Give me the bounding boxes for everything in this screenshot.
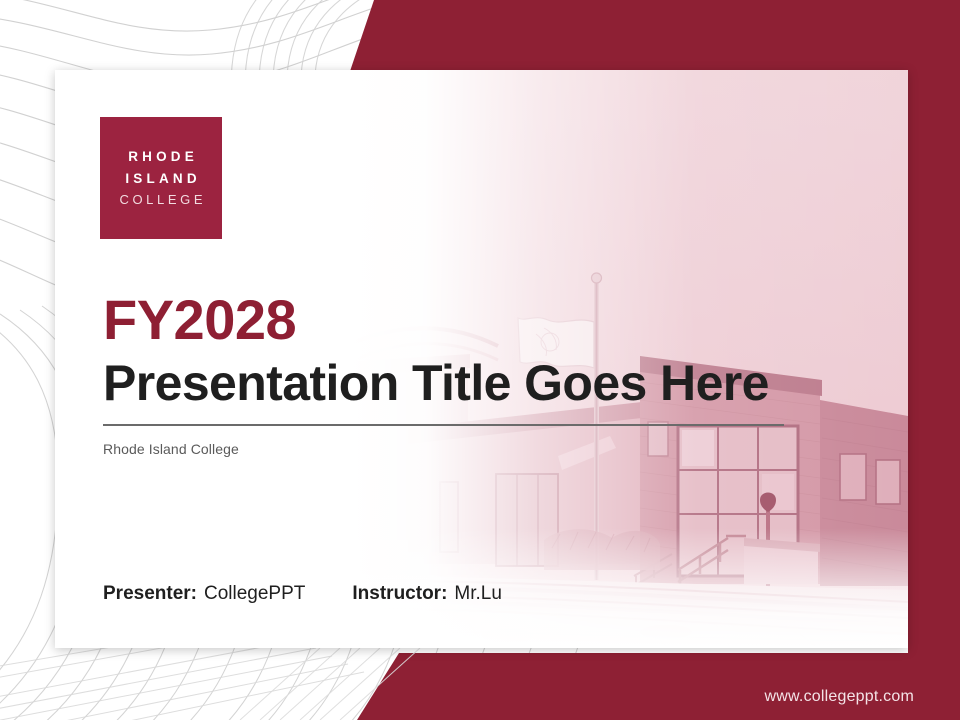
instructor-label: Instructor: xyxy=(352,583,447,605)
red-band-right xyxy=(908,0,960,720)
logo-line-island: ISLAND xyxy=(121,172,201,186)
title-divider xyxy=(103,424,784,426)
red-band-bottom xyxy=(357,653,960,720)
instructor-value: Mr.Lu xyxy=(454,583,502,605)
rhode-island-college-logo: RHODE ISLAND COLLEGE xyxy=(100,117,222,239)
presenter-value: CollegePPT xyxy=(204,583,305,605)
presenter-instructor-row: Presenter: CollegePPT Instructor: Mr.Lu xyxy=(103,583,502,605)
slide-card: RHODE ISLAND COLLEGE FY2028 Presentation… xyxy=(55,70,908,648)
subtitle: Rhode Island College xyxy=(103,441,863,457)
headline-block: FY2028 Presentation Title Goes Here Rhod… xyxy=(103,292,863,457)
logo-line-rhode: RHODE xyxy=(124,150,198,164)
presentation-slide: RHODE ISLAND COLLEGE FY2028 Presentation… xyxy=(0,0,960,720)
presenter-label: Presenter: xyxy=(103,583,197,605)
footer-website-url: www.collegeppt.com xyxy=(765,688,914,706)
page-title: Presentation Title Goes Here xyxy=(103,356,863,410)
fiscal-year-heading: FY2028 xyxy=(103,292,863,348)
instructor-group: Instructor: Mr.Lu xyxy=(352,583,502,605)
logo-line-college: COLLEGE xyxy=(116,193,206,206)
presenter-group: Presenter: CollegePPT xyxy=(103,583,305,605)
